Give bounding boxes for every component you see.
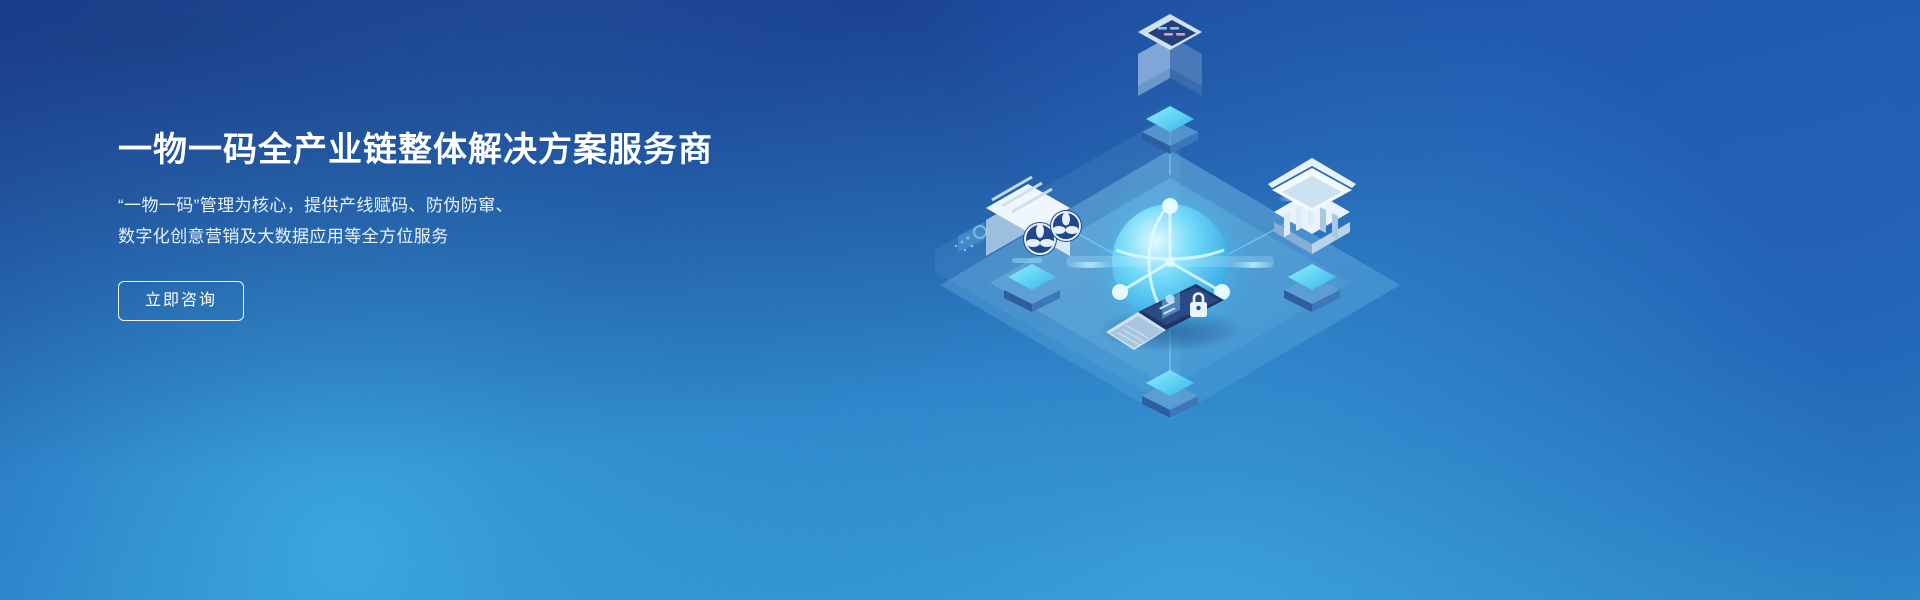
- pos-terminal-icon: [1138, 14, 1202, 154]
- subtitle-line-1: “一物一码”管理为核心，提供产线赋码、防伪防窜、: [118, 190, 838, 221]
- hero-subtitle: “一物一码”管理为核心，提供产线赋码、防伪防窜、 数字化创意营销及大数据应用等全…: [118, 190, 838, 252]
- consult-now-button[interactable]: 立即咨询: [118, 281, 244, 321]
- subtitle-line-2: 数字化创意营销及大数据应用等全方位服务: [118, 221, 838, 252]
- hero-copy: 一物一码全产业链整体解决方案服务商 “一物一码”管理为核心，提供产线赋码、防伪防…: [118, 128, 838, 321]
- page-title: 一物一码全产业链整体解决方案服务商: [118, 128, 838, 172]
- isometric-network-illustration: [880, 0, 1440, 600]
- hero-banner: 一物一码全产业链整体解决方案服务商 “一物一码”管理为核心，提供产线赋码、防伪防…: [0, 0, 1920, 600]
